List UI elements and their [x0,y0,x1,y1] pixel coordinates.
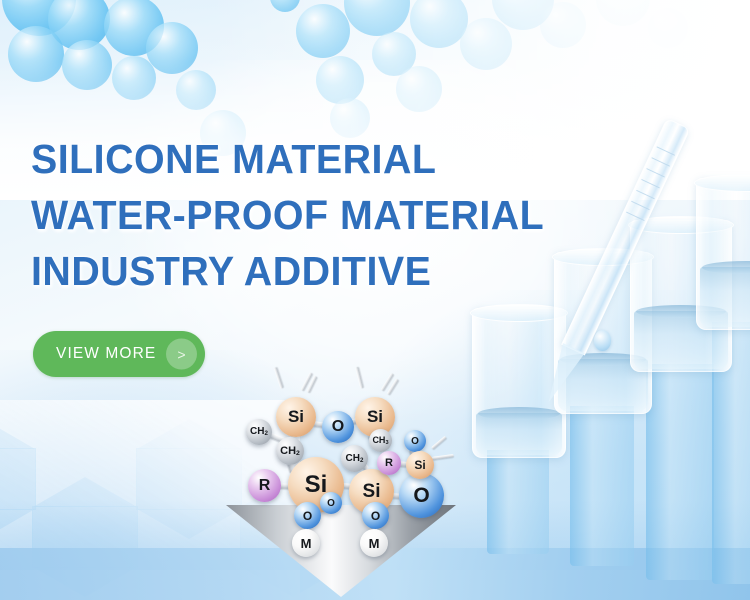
liquid-drop [594,330,611,351]
hero-banner: SiOSiCH2CH2CH3CH2RSiSiOOOOMMORSi SILICON… [0,0,750,600]
test-tube-stem [487,450,549,554]
atom-r: R [248,469,281,502]
view-more-button[interactable]: VIEW MORE > [33,331,205,377]
test-tube-liquid [476,413,562,455]
atom-o: O [404,430,426,452]
atom-m: M [360,529,388,557]
headline-line-2: WATER-PROOF MATERIAL [31,187,544,243]
atom-o: O [362,502,389,529]
atom-o: O [322,411,354,443]
headline-line-3: INDUSTRY ADDITIVE [31,243,544,299]
atom-o: O [294,502,321,529]
page-title: SILICONE MATERIAL WATER-PROOF MATERIAL I… [31,131,566,299]
atom-ch2: CH2 [246,419,272,445]
liquid-meniscus [478,407,560,420]
atom-ch3: CH3 [369,429,392,452]
molecule-bond-stub [274,367,284,389]
test-tube-rim [694,174,750,192]
molecule-bond-stub [355,367,363,389]
test-tube-liquid [700,267,750,327]
test-tube [696,178,750,330]
atom-r: R [377,451,401,475]
headline-line-1: SILICONE MATERIAL [31,131,544,187]
view-more-label: VIEW MORE [56,345,156,363]
atom-o: O [399,473,444,518]
silicone-molecule-diagram: SiOSiCH2CH2CH3CH2RSiSiOOOOMMORSi [236,385,486,565]
atom-si: Si [276,397,316,437]
molecule-bond-stub [432,454,454,460]
atom-m: M [292,529,320,557]
atom-o: O [320,492,342,514]
liquid-meniscus [702,261,750,274]
atom-si: Si [406,451,434,479]
atom-ch2: CH2 [341,445,368,472]
molecule-bond-stub [431,436,447,450]
chevron-right-icon: > [166,339,197,370]
test-tube-stem [646,364,714,580]
test-tube-stem [570,406,634,566]
